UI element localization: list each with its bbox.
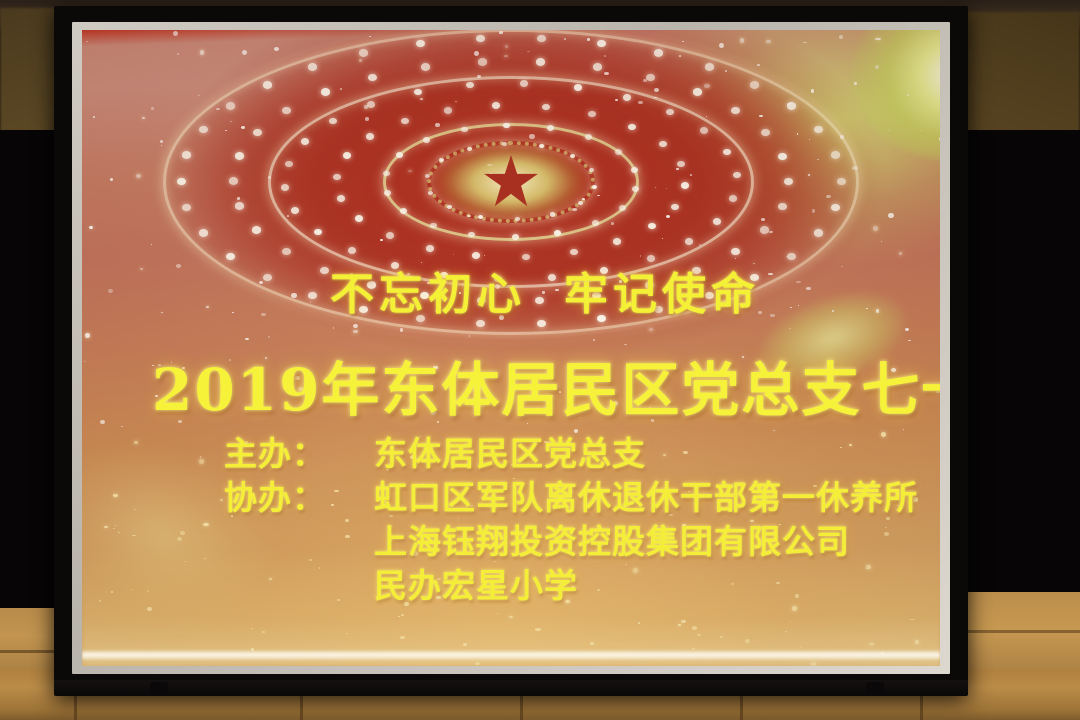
- credit-row: 主办： 东体居民区党总支: [224, 432, 918, 476]
- slogan-part-1: 不忘初心: [330, 269, 526, 320]
- slide-text-layer: 不忘初心牢记使命 2019年东体居民区党总支七一庆典 主办： 东体居民区党总支 …: [82, 30, 940, 666]
- credit-value: 上海钰翔投资控股集团有限公司: [374, 520, 850, 564]
- credit-row: 民办宏星小学: [224, 564, 918, 608]
- photograph: 不忘初心牢记使命 2019年东体居民区党总支七一庆典 主办： 东体居民区党总支 …: [0, 0, 1080, 720]
- credit-value: 东体居民区党总支: [374, 432, 646, 476]
- slide-slogan: 不忘初心牢记使命: [330, 258, 760, 322]
- projection-screen-surface: 不忘初心牢记使命 2019年东体居民区党总支七一庆典 主办： 东体居民区党总支 …: [82, 30, 940, 666]
- slogan-part-2: 牢记使命: [564, 269, 760, 320]
- projection-screen-frame: 不忘初心牢记使命 2019年东体居民区党总支七一庆典 主办： 东体居民区党总支 …: [54, 6, 968, 696]
- credit-label: 主办：: [224, 432, 374, 476]
- slide-title: 2019年东体居民区党总支七一庆典: [152, 343, 940, 427]
- credit-row: 协办： 虹口区军队离休退休干部第一休养所: [224, 476, 918, 520]
- presentation-slide: 不忘初心牢记使命 2019年东体居民区党总支七一庆典 主办： 东体居民区党总支 …: [82, 30, 940, 666]
- projection-screen-weight-bar: [54, 680, 968, 696]
- projection-screen-bezel: 不忘初心牢记使命 2019年东体居民区党总支七一庆典 主办： 东体居民区党总支 …: [72, 22, 950, 674]
- credit-label: 协办：: [224, 476, 374, 520]
- credit-row: 上海钰翔投资控股集团有限公司: [224, 520, 918, 564]
- slide-credits: 主办： 东体居民区党总支 协办： 虹口区军队离休退休干部第一休养所 上海钰翔投资…: [224, 432, 918, 608]
- credit-value: 虹口区军队离休退休干部第一休养所: [374, 476, 918, 520]
- credit-value: 民办宏星小学: [374, 564, 578, 608]
